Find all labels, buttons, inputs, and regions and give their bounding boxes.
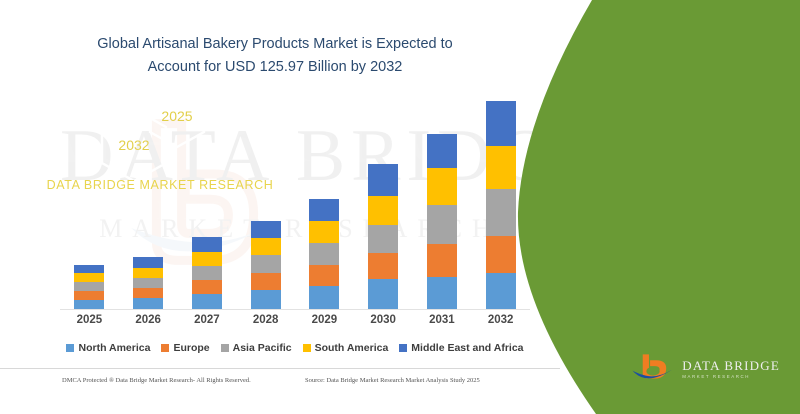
footer-divider	[0, 368, 560, 369]
bar-segment	[427, 244, 457, 277]
legend-item[interactable]: Asia Pacific	[221, 342, 292, 354]
bar-segment	[486, 101, 516, 146]
bar-segment	[309, 286, 339, 309]
bar-segment	[486, 273, 516, 309]
legend-item[interactable]: Europe	[161, 342, 209, 354]
legend-label: South America	[315, 342, 389, 354]
bar-segment	[192, 252, 222, 266]
x-axis-label-2026: 2026	[120, 314, 176, 326]
legend-swatch-icon	[221, 344, 229, 352]
brand-logo: DATA BRIDGE MARKET RESEARCH	[631, 352, 780, 386]
chart-legend: North AmericaEuropeAsia PacificSouth Ame…	[60, 342, 530, 354]
x-axis-labels: 20252026202720282029203020312032	[60, 314, 530, 332]
chart-plot-area	[60, 94, 530, 310]
infographic-canvas: DATA BRIDGE MARKET RESEARCH Global Artis…	[0, 0, 800, 414]
bar-segment	[192, 294, 222, 309]
bar-segment	[251, 290, 281, 309]
bar-2030	[368, 164, 398, 309]
bar-segment	[133, 268, 163, 278]
bar-2029	[309, 199, 339, 309]
logo-text-block: DATA BRIDGE MARKET RESEARCH	[682, 359, 780, 379]
legend-label: Asia Pacific	[233, 342, 292, 354]
bar-segment	[368, 196, 398, 225]
bar-segment	[309, 199, 339, 221]
bar-segment	[74, 300, 104, 309]
bar-segment	[74, 291, 104, 300]
bar-segment	[309, 221, 339, 243]
bar-segment	[251, 238, 281, 255]
x-axis-label-2028: 2028	[238, 314, 294, 326]
legend-item[interactable]: Middle East and Africa	[399, 342, 523, 354]
bar-segment	[251, 221, 281, 238]
bar-segment	[427, 205, 457, 244]
x-axis-label-2032: 2032	[473, 314, 529, 326]
x-axis-label-2027: 2027	[179, 314, 235, 326]
bar-segment	[427, 168, 457, 205]
x-axis-label-2030: 2030	[355, 314, 411, 326]
bar-segment	[133, 288, 163, 298]
bar-segment	[192, 266, 222, 280]
bar-segment	[368, 225, 398, 253]
bar-segment	[309, 243, 339, 265]
legend-item[interactable]: North America	[66, 342, 150, 354]
stacked-bar-chart	[60, 92, 530, 310]
legend-swatch-icon	[66, 344, 74, 352]
bar-segment	[486, 146, 516, 189]
bar-segment	[251, 255, 281, 273]
bar-segment	[74, 273, 104, 282]
legend-label: Europe	[173, 342, 209, 354]
bar-segment	[427, 134, 457, 168]
bar-segment	[368, 279, 398, 309]
x-axis-label-2025: 2025	[61, 314, 117, 326]
legend-swatch-icon	[399, 344, 407, 352]
legend-swatch-icon	[161, 344, 169, 352]
logo-main-text: DATA BRIDGE	[682, 359, 780, 372]
bar-segment	[486, 189, 516, 236]
bar-2032	[486, 101, 516, 309]
bar-segment	[74, 282, 104, 291]
bar-segment	[368, 253, 398, 279]
bar-segment	[74, 265, 104, 273]
bar-segment	[427, 277, 457, 309]
bar-2027	[192, 237, 222, 309]
x-axis-line	[60, 309, 530, 310]
x-axis-label-2031: 2031	[414, 314, 470, 326]
bar-segment	[251, 273, 281, 290]
legend-swatch-icon	[303, 344, 311, 352]
bar-segment	[309, 265, 339, 286]
page-title: Global Artisanal Bakery Products Market …	[70, 33, 480, 79]
bar-segment	[133, 278, 163, 288]
x-axis-label-2029: 2029	[296, 314, 352, 326]
bar-segment	[486, 236, 516, 273]
bar-2031	[427, 134, 457, 309]
bar-segment	[192, 237, 222, 252]
bar-2028	[251, 221, 281, 309]
bar-segment	[133, 257, 163, 268]
bar-segment	[192, 280, 222, 294]
footer-source: Source: Data Bridge Market Research Mark…	[305, 377, 480, 384]
bar-segment	[133, 298, 163, 309]
bar-2025	[74, 265, 104, 309]
legend-label: North America	[78, 342, 150, 354]
bar-2026	[133, 257, 163, 309]
logo-sub-text: MARKET RESEARCH	[682, 375, 780, 379]
legend-item[interactable]: South America	[303, 342, 389, 354]
data-bridge-logo-icon	[631, 352, 675, 386]
legend-label: Middle East and Africa	[411, 342, 523, 354]
bar-segment	[368, 164, 398, 196]
footer-copyright: DMCA Protected ® Data Bridge Market Rese…	[62, 377, 251, 384]
